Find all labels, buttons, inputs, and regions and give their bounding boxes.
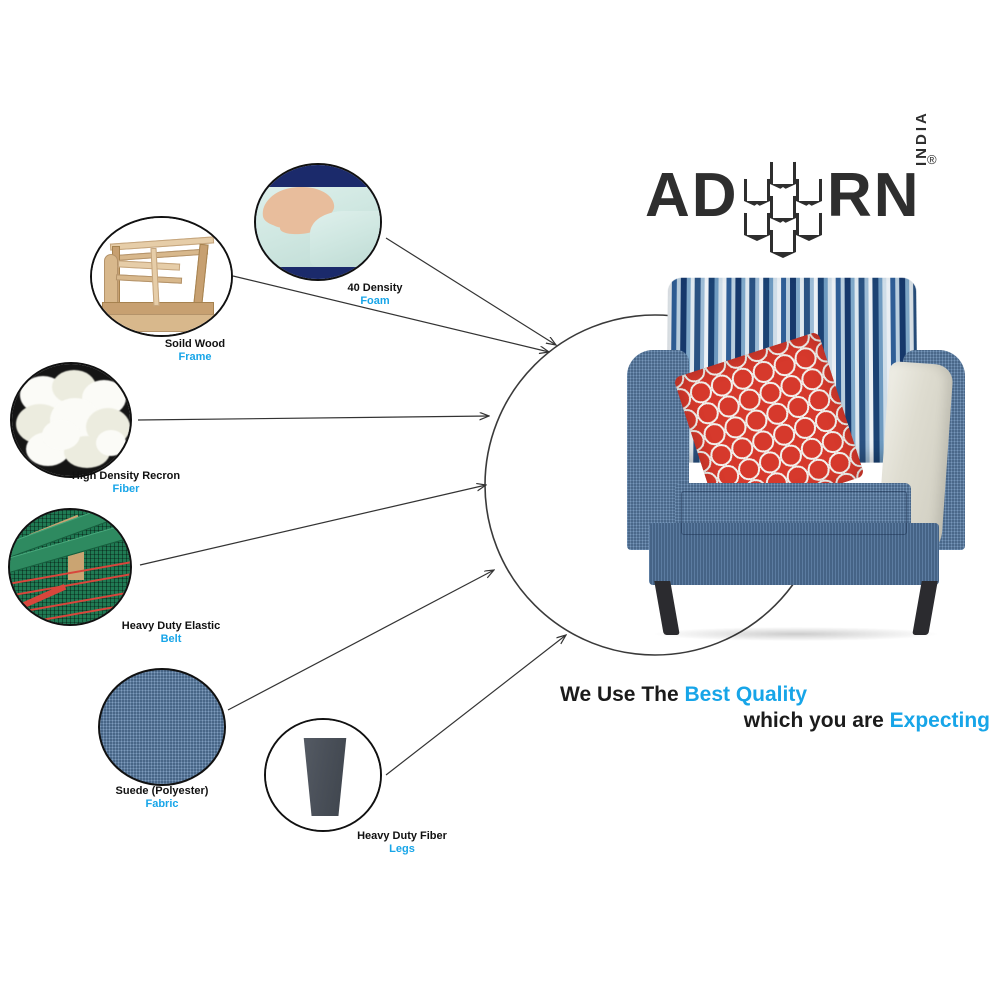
tagline-line-2-plain: which you are — [744, 709, 890, 732]
brand-logo: AD RN INDIA ® — [645, 150, 965, 240]
tagline-line-2-highlight: Expecting — [890, 709, 990, 732]
feature-image-fiber — [10, 362, 132, 478]
caption-foam-subtitle: Foam — [310, 295, 440, 308]
tagline-line-1-highlight: Best Quality — [684, 683, 807, 706]
front-right-leg — [912, 581, 938, 635]
logo-text-rn: RN — [827, 160, 921, 231]
feature-image-legs — [264, 718, 382, 832]
tagline: We Use The Best Quality which you are Ex… — [560, 682, 990, 735]
feature-image-foam — [254, 163, 382, 281]
caption-legs-title: Heavy Duty Fiber — [327, 830, 477, 843]
caption-belt: Heavy Duty Elastic Belt — [96, 620, 246, 645]
caption-fiber: High Density Recron Fiber — [46, 470, 206, 495]
caption-fabric: Suede (Polyester) Fabric — [87, 785, 237, 810]
caption-foam: 40 Density Foam — [310, 282, 440, 307]
logo-text-ad: AD — [645, 160, 739, 231]
caption-frame-title: Soild Wood — [130, 338, 260, 351]
caption-belt-subtitle: Belt — [96, 633, 246, 646]
caption-belt-title: Heavy Duty Elastic — [96, 620, 246, 633]
infographic-canvas: Soild Wood Frame 40 Density Foam — [0, 0, 1000, 1000]
caption-frame: Soild Wood Frame — [130, 338, 260, 363]
honeycomb-icon — [744, 162, 822, 234]
feature-image-belt — [8, 508, 132, 626]
tagline-line-2: which you are Expecting — [560, 708, 990, 734]
floor-shadow — [655, 627, 937, 641]
tagline-line-1: We Use The Best Quality — [560, 682, 990, 708]
product-image-armchair — [615, 255, 975, 645]
base-stitch-line — [681, 491, 907, 535]
feature-image-fabric — [98, 668, 226, 786]
caption-fiber-subtitle: Fiber — [46, 483, 206, 496]
tagline-line-1-plain: We Use The — [560, 683, 684, 706]
feature-image-frame — [90, 216, 233, 337]
caption-foam-title: 40 Density — [310, 282, 440, 295]
registered-trademark-icon: ® — [927, 152, 937, 167]
caption-legs: Heavy Duty Fiber Legs — [327, 830, 477, 855]
caption-frame-subtitle: Frame — [130, 351, 260, 364]
caption-fabric-title: Suede (Polyester) — [87, 785, 237, 798]
caption-fabric-subtitle: Fabric — [87, 798, 237, 811]
caption-legs-subtitle: Legs — [327, 843, 477, 856]
front-left-leg — [654, 581, 680, 635]
caption-fiber-title: High Density Recron — [46, 470, 206, 483]
